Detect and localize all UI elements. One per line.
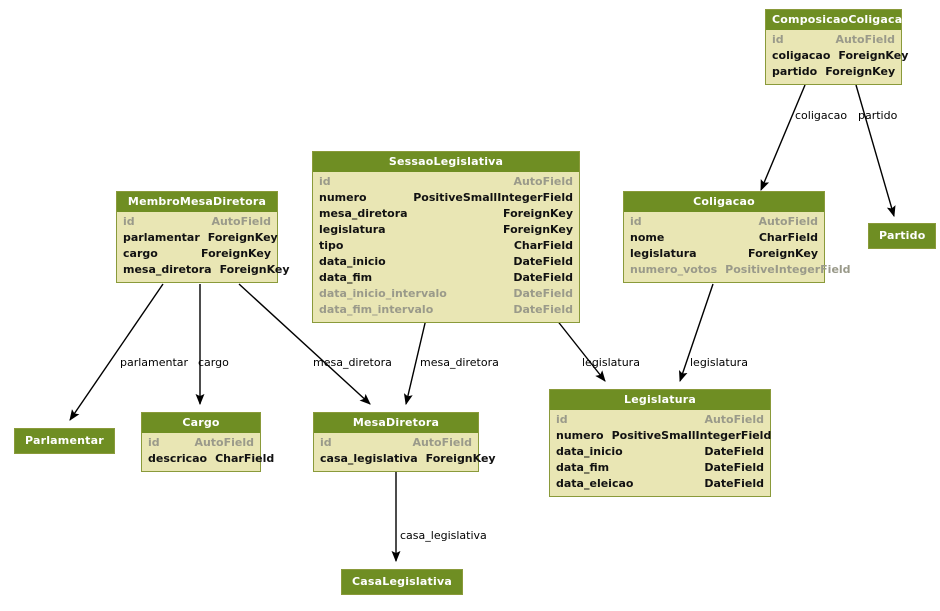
entity-fields-membromesadiretora: idAutoFieldparlamentarForeignKeycargoFor… [117,212,277,282]
field-type: DateField [513,270,573,286]
field-row: coligacaoForeignKey [766,48,901,64]
field-row: legislaturaForeignKey [624,246,824,262]
entity-title-membromesadiretora: MembroMesaDiretora [117,192,277,212]
field-name: mesa_diretora [319,206,416,222]
edge-label-legislatura-6: legislatura [582,357,640,369]
field-row: tipoCharField [313,238,579,254]
field-name: numero [556,428,612,444]
field-name: descricao [148,451,215,467]
field-name: numero [319,190,375,206]
edge-label-cargo-3: cargo [198,357,229,369]
field-type: DateField [704,476,764,492]
field-type: AutoField [835,32,895,48]
field-name: id [630,214,650,230]
field-type: PositiveSmallIntegerField [413,190,573,206]
field-name: data_eleicao [556,476,641,492]
field-row: data_inicio_intervaloDateField [313,286,579,302]
field-name: data_inicio [556,444,631,460]
field-name: legislatura [319,222,394,238]
field-row: parlamentarForeignKey [117,230,277,246]
edge-composicao-partido [856,85,894,216]
entity-fields-coligacao: idAutoFieldnomeCharFieldlegislaturaForei… [624,212,824,282]
field-type: ForeignKey [838,48,908,64]
field-name: data_inicio [319,254,394,270]
field-name: nome [630,230,672,246]
field-row: idAutoField [117,214,277,230]
field-type: PositiveSmallIntegerField [612,428,772,444]
edge-label-mesa-diretora-5: mesa_diretora [420,357,499,369]
edge-sessao-legislatura [556,319,605,381]
entity-title-sessaolegislativa: SessaoLegislativa [313,152,579,172]
field-name: parlamentar [123,230,208,246]
field-row: idAutoField [142,435,260,451]
entity-membromesadiretora[interactable]: MembroMesaDiretoraidAutoFieldparlamentar… [116,191,278,283]
entity-fields-cargo: idAutoFielddescricaoCharField [142,433,260,471]
field-row: data_fim_intervaloDateField [313,302,579,318]
field-type: CharField [759,230,818,246]
field-type: CharField [215,451,274,467]
field-type: DateField [513,286,573,302]
field-type: ForeignKey [208,230,278,246]
field-row: idAutoField [313,174,579,190]
field-name: data_fim [319,270,380,286]
field-type: AutoField [704,412,764,428]
field-row: data_inicioDateField [313,254,579,270]
field-name: data_fim [556,460,617,476]
field-type: DateField [513,302,573,318]
field-row: idAutoField [550,412,770,428]
field-row: numeroPositiveSmallIntegerField [550,428,770,444]
field-row: casa_legislativaForeignKey [314,451,478,467]
field-row: legislaturaForeignKey [313,222,579,238]
edge-label-coligacao-0: coligacao [795,110,847,122]
field-type: ForeignKey [201,246,271,262]
field-name: id [772,32,792,48]
field-name: legislatura [630,246,705,262]
field-type: ForeignKey [825,64,895,80]
field-row: nomeCharField [624,230,824,246]
field-name: id [123,214,143,230]
entity-title-composicaocoligacao: ComposicaoColigacao [766,10,901,30]
field-name: mesa_diretora [123,262,220,278]
field-row: mesa_diretoraForeignKey [117,262,277,278]
edge-composicao-coligacao [761,85,805,190]
field-name: id [320,435,340,451]
field-row: data_fimDateField [550,460,770,476]
field-name: coligacao [772,48,838,64]
edge-label-casa-legislativa-8: casa_legislativa [400,530,487,542]
entity-partido[interactable]: Partido [868,223,936,249]
entity-legislatura[interactable]: LegislaturaidAutoFieldnumeroPositiveSmal… [549,389,771,497]
field-row: idAutoField [624,214,824,230]
entity-fields-composicaocoligacao: idAutoFieldcoligacaoForeignKeypartidoFor… [766,30,901,84]
field-type: DateField [704,444,764,460]
edge-membro-parlamentar [70,284,163,420]
field-type: CharField [514,238,573,254]
entity-title-cargo: Cargo [142,413,260,433]
field-name: id [556,412,576,428]
field-type: ForeignKey [220,262,290,278]
field-name: numero_votos [630,262,725,278]
entity-parlamentar[interactable]: Parlamentar [14,428,115,454]
entity-title-mesadiretora: MesaDiretora [314,413,478,433]
entity-title-legislatura: Legislatura [550,390,770,410]
field-name: tipo [319,238,351,254]
field-name: data_fim_intervalo [319,302,441,318]
edge-label-partido-1: partido [858,110,897,122]
edge-label-mesa-diretora-4: mesa_diretora [313,357,392,369]
field-row: idAutoField [314,435,478,451]
field-type: DateField [513,254,573,270]
field-type: DateField [704,460,764,476]
field-type: AutoField [211,214,271,230]
entity-fields-mesadiretora: idAutoFieldcasa_legislativaForeignKey [314,433,478,471]
field-type: AutoField [758,214,818,230]
field-row: cargoForeignKey [117,246,277,262]
field-type: ForeignKey [426,451,496,467]
field-name: casa_legislativa [320,451,426,467]
field-row: numeroPositiveSmallIntegerField [313,190,579,206]
field-name: id [319,174,339,190]
diagram-canvas: ComposicaoColigacaoidAutoFieldcoligacaoF… [0,0,940,611]
entity-fields-legislatura: idAutoFieldnumeroPositiveSmallIntegerFie… [550,410,770,496]
field-row: descricaoCharField [142,451,260,467]
field-row: idAutoField [766,32,901,48]
field-row: data_eleicaoDateField [550,476,770,492]
entity-composicaocoligacao[interactable]: ComposicaoColigacaoidAutoFieldcoligacaoF… [765,9,902,85]
field-row: numero_votosPositiveIntegerField [624,262,824,278]
field-name: partido [772,64,825,80]
entity-casalegislativa[interactable]: CasaLegislativa [341,569,463,595]
entity-title-coligacao: Coligacao [624,192,824,212]
entity-mesadiretora[interactable]: MesaDiretoraidAutoFieldcasa_legislativaF… [313,412,479,472]
edge-label-parlamentar-2: parlamentar [120,357,188,369]
field-type: AutoField [513,174,573,190]
entity-cargo[interactable]: CargoidAutoFielddescricaoCharField [141,412,261,472]
entity-sessaolegislativa[interactable]: SessaoLegislativaidAutoFieldnumeroPositi… [312,151,580,323]
field-row: data_fimDateField [313,270,579,286]
field-name: cargo [123,246,166,262]
field-row: mesa_diretoraForeignKey [313,206,579,222]
field-type: AutoField [412,435,472,451]
entity-coligacao[interactable]: ColigacaoidAutoFieldnomeCharFieldlegisla… [623,191,825,283]
field-type: PositiveIntegerField [725,262,850,278]
field-type: ForeignKey [503,206,573,222]
entity-fields-sessaolegislativa: idAutoFieldnumeroPositiveSmallIntegerFie… [313,172,579,322]
field-type: ForeignKey [748,246,818,262]
field-name: id [148,435,168,451]
field-type: ForeignKey [503,222,573,238]
field-name: data_inicio_intervalo [319,286,455,302]
edge-label-legislatura-7: legislatura [690,357,748,369]
field-type: AutoField [194,435,254,451]
field-row: data_inicioDateField [550,444,770,460]
field-row: partidoForeignKey [766,64,901,80]
